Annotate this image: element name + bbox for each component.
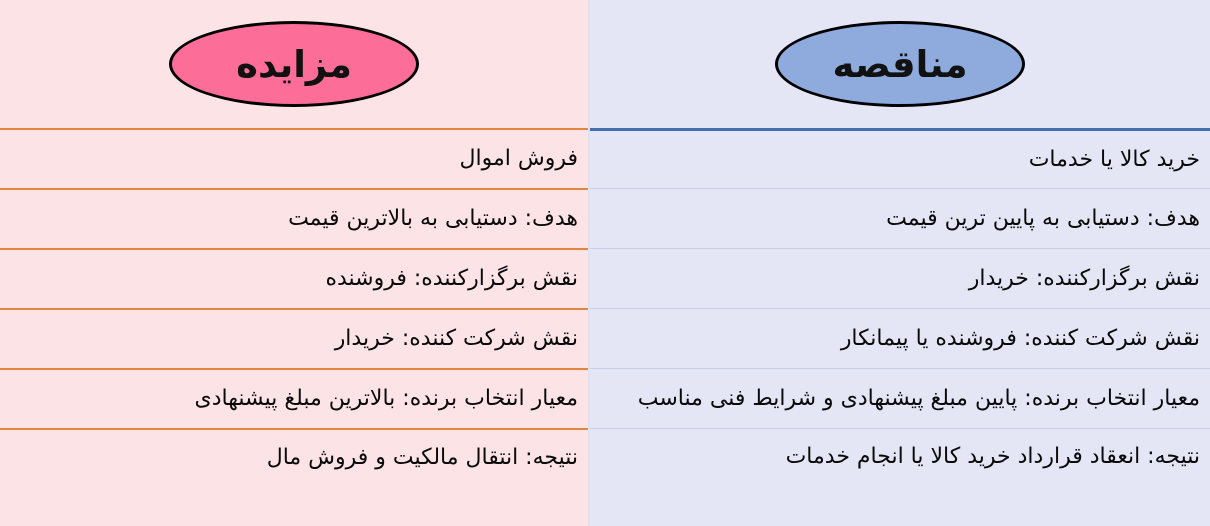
- tender-column: مناقصه خرید کالا یا خدمات هدف: دستیابی ب…: [590, 0, 1210, 526]
- table-row: هدف: دستیابی به پایین ترین قیمت: [590, 188, 1210, 248]
- table-row: معیار انتخاب برنده: پایین مبلغ پیشنهادی …: [590, 368, 1210, 428]
- auction-heading-badge: مزایده: [169, 21, 419, 107]
- auction-row-subject: فروش اموال: [10, 145, 578, 173]
- auction-row-participant-role: نقش شرکت کننده: خریدار: [10, 325, 578, 353]
- auction-row-result: نتیجه: انتقال مالکیت و فروش مال: [10, 444, 578, 472]
- auction-row-goal: هدف: دستیابی به بالاترین قیمت: [10, 205, 578, 233]
- table-row: نتیجه: انعقاد قرارداد خرید کالا یا انجام…: [590, 428, 1210, 526]
- table-row: نقش شرکت کننده: فروشنده یا پیمانکار: [590, 308, 1210, 368]
- auction-heading-label: مزایده: [236, 46, 352, 83]
- auction-column: مزایده فروش اموال هدف: دستیابی به بالاتر…: [0, 0, 590, 526]
- tender-row-participant-role: نقش شرکت کننده: فروشنده یا پیمانکار: [600, 325, 1200, 353]
- table-row: فروش اموال: [0, 128, 588, 188]
- table-row: نقش برگزارکننده: فروشنده: [0, 248, 588, 308]
- auction-row-organizer-role: نقش برگزارکننده: فروشنده: [10, 265, 578, 293]
- tender-row-winner-criteria: معیار انتخاب برنده: پایین مبلغ پیشنهادی …: [600, 385, 1200, 413]
- comparison-table: مزایده فروش اموال هدف: دستیابی به بالاتر…: [0, 0, 1210, 526]
- tender-row-result: نتیجه: انعقاد قرارداد خرید کالا یا انجام…: [600, 443, 1200, 471]
- tender-heading-badge: مناقصه: [775, 21, 1025, 107]
- tender-row-subject: خرید کالا یا خدمات: [600, 146, 1200, 174]
- tender-row-goal: هدف: دستیابی به پایین ترین قیمت: [600, 205, 1200, 233]
- tender-rows: خرید کالا یا خدمات هدف: دستیابی به پایین…: [590, 128, 1210, 526]
- table-row: نقش برگزارکننده: خریدار: [590, 248, 1210, 308]
- table-row: نقش شرکت کننده: خریدار: [0, 308, 588, 368]
- auction-column-header: مزایده: [0, 0, 588, 128]
- table-row: خرید کالا یا خدمات: [590, 128, 1210, 188]
- tender-heading-label: مناقصه: [832, 46, 967, 83]
- tender-row-organizer-role: نقش برگزارکننده: خریدار: [600, 265, 1200, 293]
- table-row: معیار انتخاب برنده: بالاترین مبلغ پیشنها…: [0, 368, 588, 428]
- table-row: هدف: دستیابی به بالاترین قیمت: [0, 188, 588, 248]
- table-row: نتیجه: انتقال مالکیت و فروش مال: [0, 428, 588, 526]
- tender-column-header: مناقصه: [590, 0, 1210, 128]
- auction-row-winner-criteria: معیار انتخاب برنده: بالاترین مبلغ پیشنها…: [10, 385, 578, 413]
- auction-rows: فروش اموال هدف: دستیابی به بالاترین قیمت…: [0, 128, 588, 526]
